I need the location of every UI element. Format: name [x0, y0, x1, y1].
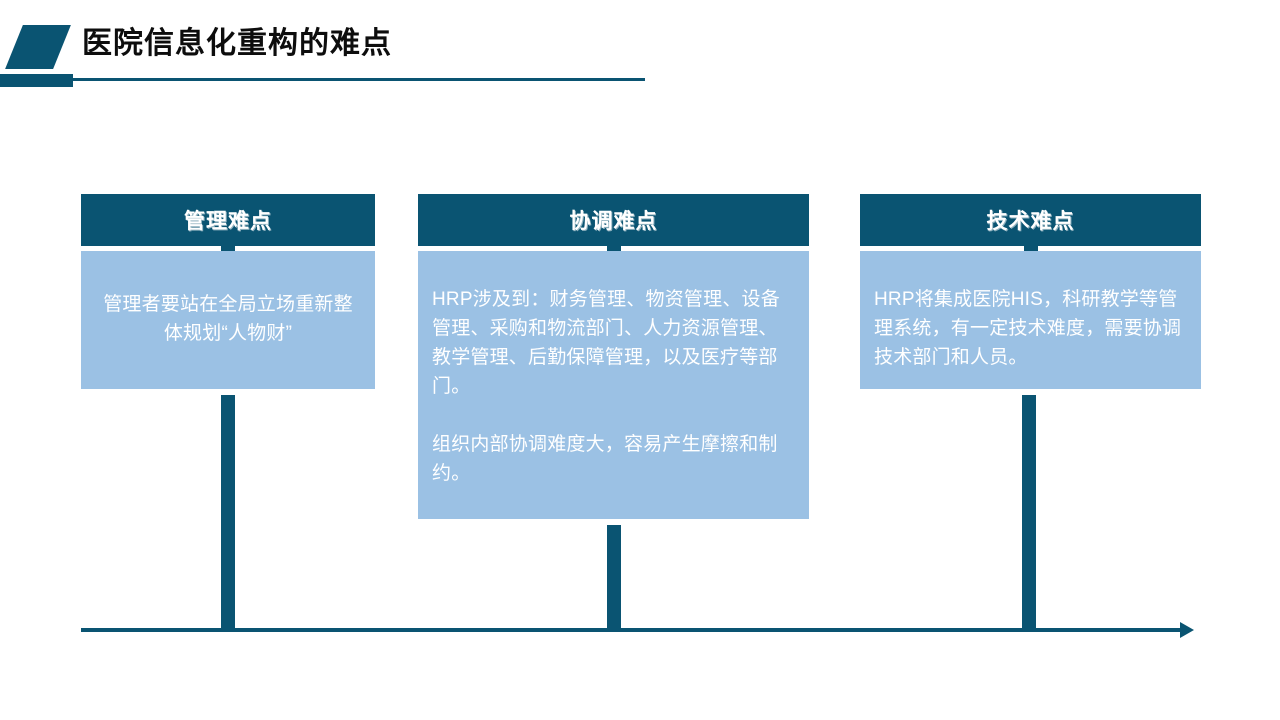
card-technical-title: 技术难点 — [987, 205, 1075, 235]
card-coordination-body: HRP涉及到：财务管理、物资管理、设备管理、采购和物流部门、人力资源管理、教学管… — [418, 251, 809, 519]
timeline-arrowhead-icon — [1180, 622, 1194, 638]
header-accent-bar — [0, 74, 73, 87]
header-underline — [73, 78, 645, 81]
slide-canvas: 医院信息化重构的难点 管理难点 管理者要站在全局立场重新整体规划“人物财” 协调… — [0, 0, 1280, 720]
timeline-arrow-line — [81, 628, 1186, 632]
card-coordination-notch — [607, 246, 621, 251]
card-coordination-header: 协调难点 — [418, 194, 809, 246]
card-coordination-paragraph-2: 组织内部协调难度大，容易产生摩擦和制约。 — [432, 430, 795, 488]
card-management-body: 管理者要站在全局立场重新整体规划“人物财” — [81, 251, 375, 389]
page-title: 医院信息化重构的难点 — [82, 23, 392, 65]
logo-parallelogram-icon — [5, 25, 71, 69]
connector-technical — [1022, 395, 1036, 630]
card-technical-body: HRP将集成医院HIS，科研教学等管理系统，有一定技术难度，需要协调技术部门和人… — [860, 251, 1201, 389]
card-coordination-title: 协调难点 — [570, 205, 658, 235]
card-management-title: 管理难点 — [184, 205, 272, 235]
card-technical-notch — [1024, 246, 1038, 251]
connector-coordination — [607, 525, 621, 630]
card-coordination-paragraph-1: HRP涉及到：财务管理、物资管理、设备管理、采购和物流部门、人力资源管理、教学管… — [432, 285, 795, 401]
connector-management — [221, 395, 235, 630]
card-technical-header: 技术难点 — [860, 194, 1201, 246]
card-technical-paragraph-1: HRP将集成医院HIS，科研教学等管理系统，有一定技术难度，需要协调技术部门和人… — [874, 285, 1187, 372]
card-management-paragraph-1: 管理者要站在全局立场重新整体规划“人物财” — [103, 290, 353, 348]
card-management-notch — [221, 246, 235, 251]
card-management-header: 管理难点 — [81, 194, 375, 246]
